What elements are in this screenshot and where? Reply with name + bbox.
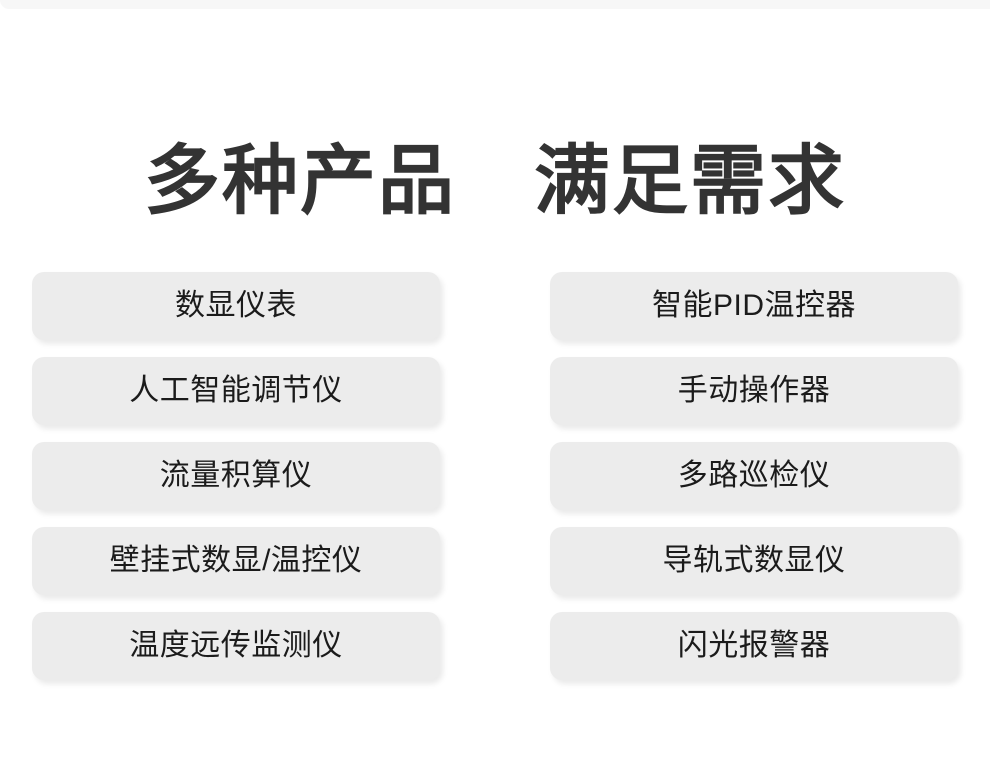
product-category-button[interactable]: 壁挂式数显/温控仪 [32, 527, 440, 595]
product-category-label: 人工智能调节仪 [129, 374, 343, 408]
product-category-button[interactable]: 导轨式数显仪 [550, 527, 958, 595]
top-decorative-band [0, 0, 990, 9]
product-category-label: 多路巡检仪 [678, 459, 831, 493]
product-category-grid: 数显仪表 智能PID温控器 人工智能调节仪 手动操作器 流量积算仪 多路巡检仪 … [32, 272, 958, 680]
product-category-button[interactable]: 智能PID温控器 [550, 272, 958, 340]
product-category-label: 壁挂式数显/温控仪 [110, 544, 363, 578]
product-category-button[interactable]: 温度远传监测仪 [32, 612, 440, 680]
product-category-label: 温度远传监测仪 [129, 629, 343, 663]
product-category-button[interactable]: 多路巡检仪 [550, 442, 958, 510]
product-category-button[interactable]: 人工智能调节仪 [32, 357, 440, 425]
page-title: 多种产品 满足需求 [0, 135, 990, 229]
product-category-button[interactable]: 数显仪表 [32, 272, 440, 340]
product-category-button[interactable]: 流量积算仪 [32, 442, 440, 510]
product-category-label: 智能PID温控器 [652, 289, 856, 323]
product-category-label: 闪光报警器 [678, 629, 831, 663]
product-category-page: 多种产品 满足需求 数显仪表 智能PID温控器 人工智能调节仪 手动操作器 流量… [0, 0, 990, 784]
product-category-label: 导轨式数显仪 [663, 544, 846, 578]
product-category-label: 手动操作器 [678, 374, 831, 408]
product-category-label: 数显仪表 [175, 289, 297, 323]
product-category-label: 流量积算仪 [160, 459, 313, 493]
product-category-button[interactable]: 闪光报警器 [550, 612, 958, 680]
product-category-button[interactable]: 手动操作器 [550, 357, 958, 425]
